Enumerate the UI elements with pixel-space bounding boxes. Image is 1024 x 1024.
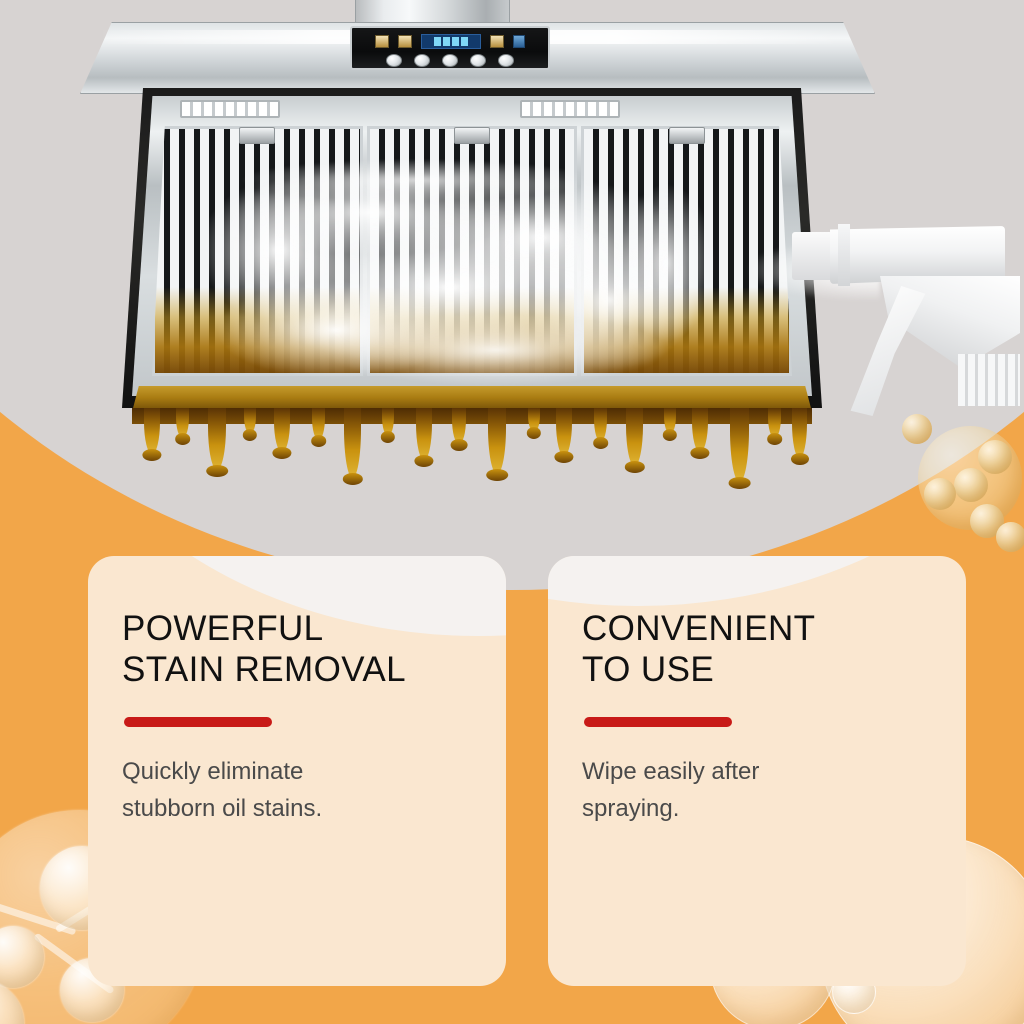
feature-card-powerful-stain-removal[interactable]: POWERFUL STAIN REMOVAL Quickly eliminate… [88, 556, 506, 986]
card-body-text: Quickly eliminate stubborn oil stains. [122, 753, 472, 827]
feature-card-convenient-to-use[interactable]: CONVENIENT TO USE Wipe easily after spra… [548, 556, 966, 986]
card-accent-rule [124, 717, 272, 727]
card-accent-rule [584, 717, 732, 727]
feature-cards: POWERFUL STAIN REMOVAL Quickly eliminate… [0, 0, 1024, 1024]
promo-banner: POWERFUL STAIN REMOVAL Quickly eliminate… [0, 0, 1024, 1024]
card-title: CONVENIENT TO USE [582, 608, 932, 691]
card-gray-wash [548, 556, 966, 606]
card-title: POWERFUL STAIN REMOVAL [122, 608, 472, 691]
card-body-text: Wipe easily after spraying. [582, 753, 932, 827]
